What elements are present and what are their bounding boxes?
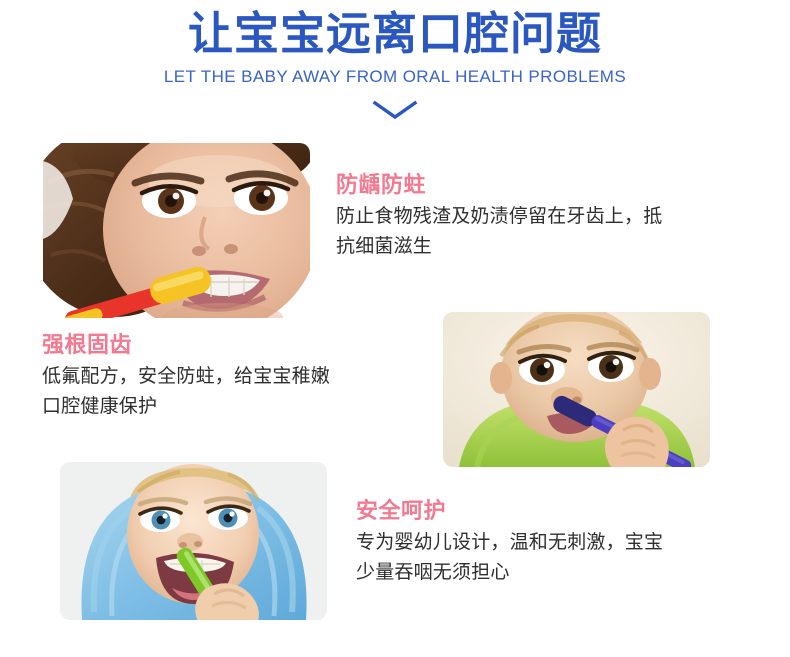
- feature-body: 专为婴幼儿设计，温和无刺激，宝宝 少量吞咽无须担心: [356, 528, 776, 588]
- feature-copy-strong-teeth: 强根固齿 低氟配方，安全防蛀，给宝宝稚嫩 口腔健康保护: [42, 332, 442, 422]
- photo-child-brushing-yellow-toothbrush: [43, 143, 310, 318]
- feature-body: 低氟配方，安全防蛀，给宝宝稚嫩 口腔健康保护: [42, 362, 442, 422]
- page-subtitle: LET THE BABY AWAY FROM ORAL HEALTH PROBL…: [0, 60, 790, 88]
- page-title: 让宝宝远离口腔问题: [0, 0, 790, 60]
- page-header: 让宝宝远离口腔问题 LET THE BABY AWAY FROM ORAL HE…: [0, 0, 790, 122]
- feature-heading: 防龋防蛀: [336, 172, 766, 200]
- feature-body: 防止食物残渣及奶渍停留在牙齿上，抵 抗细菌滋生: [336, 202, 766, 262]
- product-detail-page: 让宝宝远离口腔问题 LET THE BABY AWAY FROM ORAL HE…: [0, 0, 790, 657]
- feature-copy-anti-cavity: 防龋防蛀 防止食物残渣及奶渍停留在牙齿上，抵 抗细菌滋生: [336, 172, 766, 262]
- feature-copy-safe-care: 安全呵护 专为婴幼儿设计，温和无刺激，宝宝 少量吞咽无须担心: [356, 498, 776, 588]
- chevron-down-icon: [0, 100, 790, 122]
- photo-toddler-blue-towel-pink-toothbrush: [60, 462, 327, 620]
- feature-heading: 安全呵护: [356, 498, 776, 526]
- feature-heading: 强根固齿: [42, 332, 442, 360]
- photo-baby-green-shirt-purple-toothbrush: [443, 312, 710, 467]
